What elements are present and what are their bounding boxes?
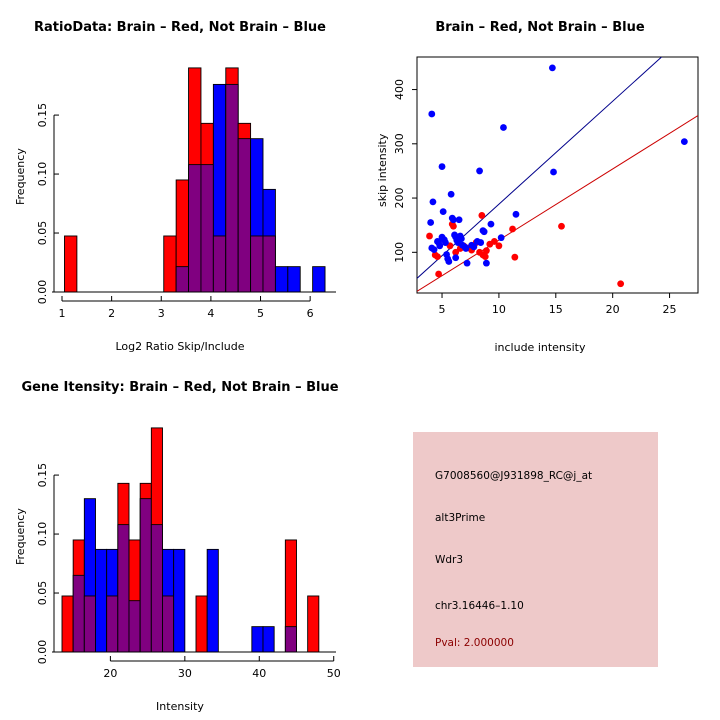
scatter-point bbox=[481, 228, 488, 235]
scatter-point bbox=[458, 235, 465, 242]
gene-info-lines: G7008560@J931898_RC@j_atalt3PrimeWdr3chr… bbox=[413, 432, 658, 667]
x-tick-label: 3 bbox=[158, 307, 165, 320]
x-tick-label: 30 bbox=[178, 667, 192, 680]
scatter-point bbox=[477, 239, 484, 246]
hist-bar-overlap bbox=[129, 601, 140, 652]
x-tick-label: 25 bbox=[663, 303, 677, 316]
scatter-point bbox=[448, 191, 455, 198]
hist-bar-overlap bbox=[213, 236, 225, 292]
hist-bar-overlap bbox=[189, 165, 201, 292]
scatter-point bbox=[496, 242, 503, 249]
fit-line bbox=[417, 56, 663, 278]
scatter-point bbox=[498, 234, 505, 241]
scatter-point bbox=[450, 223, 457, 230]
x-axis bbox=[442, 293, 670, 298]
hist-bar-overlap bbox=[73, 575, 84, 652]
x-tick-label: 10 bbox=[492, 303, 506, 316]
y-axis bbox=[54, 115, 59, 292]
y-axis bbox=[412, 90, 417, 253]
scatter-panel: Brain – Red, Not Brain – Blue include in… bbox=[360, 0, 720, 360]
info-line-locus: chr3.16446–1.10 bbox=[435, 600, 524, 612]
y-tick-label: 300 bbox=[393, 133, 406, 154]
hist-bar bbox=[288, 267, 300, 292]
scatter-point bbox=[463, 245, 470, 252]
info-line-probe-id: G7008560@J931898_RC@j_at bbox=[435, 470, 592, 482]
info-line-pvalue: Pval: 2.000000 bbox=[435, 637, 514, 649]
scatter-point bbox=[452, 254, 459, 261]
y-tick-label: 0.05 bbox=[36, 581, 49, 606]
gene-info-panel: G7008560@J931898_RC@j_atalt3PrimeWdr3chr… bbox=[413, 432, 658, 667]
x-tick-label: 20 bbox=[103, 667, 117, 680]
y-tick-label: 0.00 bbox=[36, 280, 49, 305]
hist-bar-overlap bbox=[226, 84, 238, 292]
hist-bar-overlap bbox=[285, 627, 296, 652]
scatter-point bbox=[483, 260, 490, 267]
hist-bar-overlap bbox=[163, 596, 174, 652]
hist-bar-overlap bbox=[263, 236, 275, 292]
x-axis bbox=[62, 296, 310, 301]
ratio-histogram-plot: 0.000.050.100.15123456 bbox=[0, 0, 360, 360]
x-tick-label: 5 bbox=[257, 307, 264, 320]
y-tick-label: 200 bbox=[393, 188, 406, 209]
scatter-point bbox=[431, 246, 438, 253]
gene-intensity-histogram-panel: Gene Itensity: Brain – Red, Not Brain – … bbox=[0, 360, 360, 720]
y-tick-label: 0.10 bbox=[36, 522, 49, 547]
scatter-point bbox=[456, 216, 463, 223]
x-tick-label: 2 bbox=[108, 307, 115, 320]
scatter-point bbox=[445, 258, 452, 265]
y-tick-label: 0.15 bbox=[36, 103, 49, 128]
scatter-point bbox=[482, 253, 489, 260]
hist-bar bbox=[164, 236, 176, 292]
ratio-histogram-panel: RatioData: Brain – Red, Not Brain – Blue… bbox=[0, 0, 360, 360]
x-axis bbox=[110, 656, 333, 661]
x-tick-label: 50 bbox=[327, 667, 341, 680]
hist-bar bbox=[207, 549, 218, 652]
fit-line bbox=[417, 116, 698, 292]
x-tick-label: 1 bbox=[59, 307, 66, 320]
hist-bar-overlap bbox=[151, 525, 162, 652]
y-tick-label: 0.05 bbox=[36, 221, 49, 246]
scatter-point bbox=[483, 247, 490, 254]
scatter-point bbox=[558, 223, 565, 230]
y-tick-label: 0.00 bbox=[36, 640, 49, 665]
scatter-point bbox=[427, 219, 434, 226]
y-tick-label: 100 bbox=[393, 242, 406, 263]
scatter-point bbox=[550, 169, 557, 176]
hist-bar bbox=[252, 627, 263, 652]
scatter-plot: 510152025100200300400 bbox=[360, 0, 720, 360]
hist-bars bbox=[62, 428, 319, 652]
gene-intensity-plot: 0.000.050.100.1520304050 bbox=[0, 360, 360, 720]
x-tick-label: 6 bbox=[307, 307, 314, 320]
scatter-point bbox=[511, 254, 518, 261]
info-line-event-type: alt3Prime bbox=[435, 512, 485, 524]
scatter-point bbox=[617, 280, 624, 287]
hist-bar bbox=[62, 596, 73, 652]
x-tick-label: 15 bbox=[549, 303, 563, 316]
hist-bar-overlap bbox=[238, 139, 250, 292]
scatter-point bbox=[430, 198, 437, 205]
scatter-point bbox=[681, 138, 688, 145]
scatter-point bbox=[439, 163, 446, 170]
scatter-point bbox=[442, 239, 449, 246]
scatter-point bbox=[549, 64, 556, 71]
hist-bar bbox=[64, 236, 76, 292]
scatter-point bbox=[488, 221, 495, 228]
y-tick-label: 400 bbox=[393, 79, 406, 100]
plot-frame bbox=[417, 57, 698, 293]
hist-bar bbox=[313, 267, 325, 292]
info-line-gene-symbol: Wdr3 bbox=[435, 554, 463, 566]
scatter-point bbox=[426, 233, 433, 240]
scatter-point bbox=[478, 212, 485, 219]
hist-bar-overlap bbox=[176, 267, 188, 292]
hist-bar bbox=[275, 267, 287, 292]
hist-bar bbox=[263, 627, 274, 652]
hist-bar bbox=[308, 596, 319, 652]
hist-bars bbox=[64, 68, 325, 292]
hist-bar bbox=[196, 596, 207, 652]
hist-bar bbox=[96, 549, 107, 652]
x-tick-label: 40 bbox=[252, 667, 266, 680]
scatter-point bbox=[440, 208, 447, 215]
x-tick-label: 20 bbox=[606, 303, 620, 316]
y-axis bbox=[54, 475, 59, 652]
scatter-point bbox=[513, 211, 520, 218]
x-tick-label: 4 bbox=[207, 307, 214, 320]
scatter-point bbox=[476, 168, 483, 175]
hist-bar-overlap bbox=[251, 236, 263, 292]
hist-bar bbox=[174, 549, 185, 652]
scatter-point bbox=[500, 124, 507, 131]
scatter-point bbox=[428, 111, 435, 118]
y-tick-label: 0.10 bbox=[36, 162, 49, 187]
x-tick-label: 5 bbox=[439, 303, 446, 316]
y-tick-label: 0.15 bbox=[36, 463, 49, 488]
scatter-point bbox=[464, 260, 471, 267]
hist-bar-overlap bbox=[84, 596, 95, 652]
hist-bar-overlap bbox=[201, 165, 213, 292]
hist-bar-overlap bbox=[118, 525, 129, 652]
scatter-point bbox=[509, 226, 516, 233]
hist-bar-overlap bbox=[107, 596, 118, 652]
hist-bar-overlap bbox=[140, 499, 151, 652]
scatter-point bbox=[435, 271, 442, 278]
scatter-point bbox=[436, 242, 443, 249]
scatter-point bbox=[434, 253, 441, 260]
